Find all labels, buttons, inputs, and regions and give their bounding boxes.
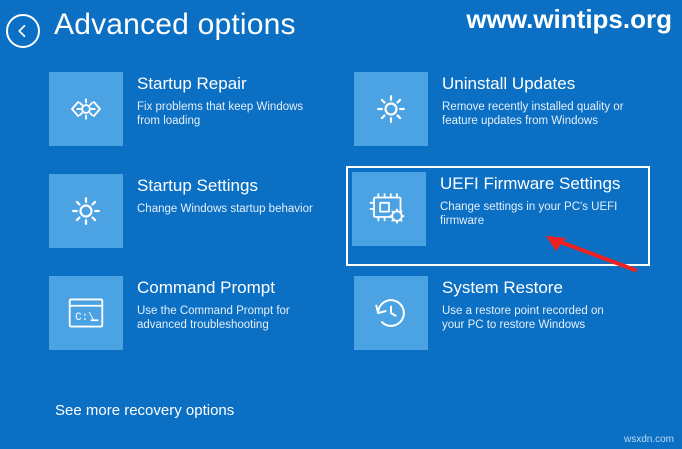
gear-icon (354, 72, 428, 146)
tile-system-restore[interactable]: System Restore Use a restore point recor… (354, 276, 644, 362)
tile-desc: Remove recently installed quality or fea… (442, 100, 628, 128)
back-arrow-icon[interactable] (6, 14, 40, 48)
tile-startup-repair[interactable]: Startup Repair Fix problems that keep Wi… (49, 72, 339, 158)
tile-title: Startup Repair (137, 74, 323, 94)
tile-desc: Change settings in your PC's UEFI firmwa… (440, 200, 626, 228)
tile-desc: Use the Command Prompt for advanced trou… (137, 304, 323, 332)
tile-text: System Restore Use a restore point recor… (442, 276, 628, 332)
tile-desc: Use a restore point recorded on your PC … (442, 304, 628, 332)
tile-desc: Change Windows startup behavior (137, 202, 313, 216)
advanced-options-screen: Advanced options www.wintips.org wsxdn.c… (0, 0, 682, 449)
tile-uninstall-updates[interactable]: Uninstall Updates Remove recently instal… (354, 72, 644, 158)
chip-gear-icon (352, 172, 426, 246)
tile-title: System Restore (442, 278, 628, 298)
tile-desc: Fix problems that keep Windows from load… (137, 100, 323, 128)
code-brackets-gear-icon (49, 72, 123, 146)
tile-text: UEFI Firmware Settings Change settings i… (440, 172, 626, 228)
tile-startup-settings[interactable]: Startup Settings Change Windows startup … (49, 174, 339, 260)
command-prompt-icon: C:\ (49, 276, 123, 350)
svg-text:C:\: C:\ (75, 312, 95, 324)
tile-text: Startup Settings Change Windows startup … (137, 174, 313, 216)
restore-clock-icon (354, 276, 428, 350)
page-title: Advanced options (54, 8, 296, 42)
watermark-bottom: wsxdn.com (624, 434, 674, 445)
gear-icon (49, 174, 123, 248)
tile-title: Uninstall Updates (442, 74, 628, 94)
tile-text: Uninstall Updates Remove recently instal… (442, 72, 628, 128)
tile-text: Startup Repair Fix problems that keep Wi… (137, 72, 323, 128)
tile-text: Command Prompt Use the Command Prompt fo… (137, 276, 323, 332)
tile-title: Command Prompt (137, 278, 323, 298)
tile-title: Startup Settings (137, 176, 313, 196)
tile-uefi-firmware-settings[interactable]: UEFI Firmware Settings Change settings i… (348, 168, 648, 264)
see-more-recovery-options-link[interactable]: See more recovery options (55, 402, 234, 419)
tile-title: UEFI Firmware Settings (440, 174, 626, 194)
tile-command-prompt[interactable]: C:\ Command Prompt Use the Command Promp… (49, 276, 339, 362)
watermark-top: www.wintips.org (466, 4, 672, 35)
